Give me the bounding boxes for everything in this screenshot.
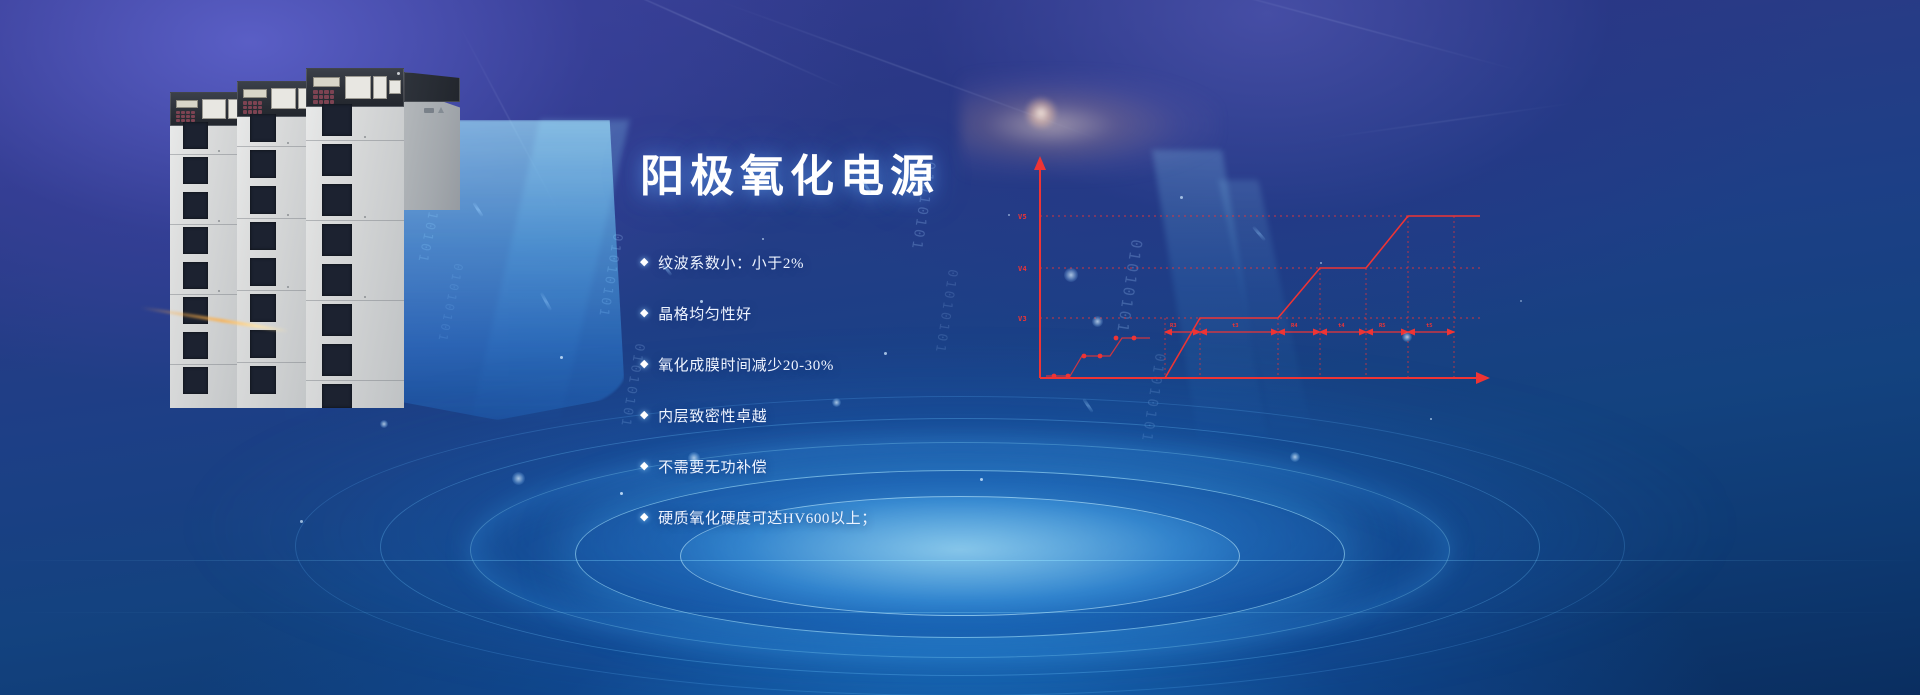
particle-dot — [762, 238, 764, 240]
segment-label-t3: t3 — [1232, 323, 1239, 329]
cabinet-keypad — [243, 101, 262, 114]
lens-flare-core — [1024, 96, 1058, 130]
particle-dot — [884, 352, 887, 355]
diamond-bullet-icon: ◆ — [640, 308, 649, 319]
cabinet-vent — [322, 224, 352, 256]
light-streak — [1156, 0, 1523, 72]
cabinet-control-panel — [306, 68, 404, 107]
particle-dot — [700, 300, 703, 303]
list-item: ◆ 不需要无功补偿 — [640, 456, 1060, 477]
floor-line — [0, 560, 1920, 561]
particle-dot — [1008, 214, 1010, 216]
cabinet-vent — [322, 144, 352, 176]
particle-dot — [1180, 196, 1183, 199]
particle-dot — [1430, 418, 1432, 420]
cabinet-vent — [250, 294, 276, 322]
bokeh-particle — [380, 420, 388, 428]
cabinet-meter — [389, 80, 401, 94]
cabinet-label-plate — [345, 76, 371, 99]
bokeh-particle — [1290, 452, 1300, 462]
data-point — [1082, 354, 1087, 359]
dimension-r5: R5 — [1366, 323, 1408, 332]
cabinet-vent — [322, 264, 352, 296]
cabinet-vent — [183, 367, 208, 394]
data-point — [1052, 374, 1057, 379]
y-tick-v3: V3 — [1018, 315, 1027, 323]
particle-dot — [300, 520, 303, 523]
cabinet-vent — [183, 332, 208, 359]
cabinet-keypad — [176, 111, 195, 122]
diamond-bullet-icon: ◆ — [640, 257, 649, 268]
cabinet-vent — [250, 186, 276, 214]
cabinet-display — [176, 100, 198, 108]
anodic-oxidation-power-supply-banner: 01010101 01010101 01010101 01010101 0101… — [0, 0, 1920, 695]
cabinet-label-plate — [271, 88, 296, 109]
data-point — [1066, 374, 1071, 379]
cabinet-vent — [183, 262, 208, 289]
data-point — [1098, 354, 1103, 359]
cabinet-label-plate — [373, 76, 387, 99]
feature-text: 氧化成膜时间减少20-30% — [658, 354, 834, 375]
dimension-r4: R4 — [1278, 323, 1320, 332]
power-supply-cabinets — [160, 78, 490, 408]
cabinet-vent — [322, 304, 352, 336]
segment-label-r3: R3 — [1170, 323, 1177, 329]
diamond-bullet-icon: ◆ — [640, 359, 649, 370]
cabinet-label-plate — [202, 99, 226, 119]
panel-indicator — [397, 72, 400, 75]
feature-text: 内层致密性卓越 — [658, 405, 767, 426]
side-logo-icon — [424, 108, 434, 113]
cabinet-display — [313, 77, 340, 87]
particle-dot — [980, 478, 983, 481]
diamond-bullet-icon: ◆ — [640, 512, 649, 523]
light-streak — [573, 0, 847, 90]
data-point — [1132, 336, 1137, 341]
list-item: ◆ 纹波系数小：小于2% — [640, 252, 1060, 273]
cabinet-vent — [183, 192, 208, 219]
particle-dot — [1520, 300, 1522, 302]
cabinet-vent — [322, 384, 352, 408]
segment-label-t5: t5 — [1426, 323, 1433, 329]
y-tick-v4: V4 — [1018, 265, 1027, 273]
segment-label-t4: t4 — [1338, 323, 1345, 329]
bokeh-particle — [832, 398, 841, 407]
data-point — [1114, 336, 1119, 341]
cabinet-vent — [322, 104, 352, 136]
list-item: ◆ 内层致密性卓越 — [640, 405, 1060, 426]
dimension-t3: t3 — [1200, 323, 1278, 332]
light-streak — [1321, 102, 1579, 139]
segment-label-r4: R4 — [1291, 323, 1298, 329]
cabinet-vent — [322, 344, 352, 376]
page-title: 阳极氧化电源 — [640, 140, 1060, 204]
particle-dot — [1320, 262, 1322, 264]
cabinet-vent — [322, 184, 352, 216]
cabinet-vent — [250, 258, 276, 286]
feature-text: 硬质氧化硬度可达HV600以上； — [658, 507, 877, 528]
staircase-waveform — [1040, 216, 1480, 378]
cabinet-display — [243, 89, 267, 98]
bokeh-particle — [1402, 332, 1412, 342]
cabinet-vent — [250, 330, 276, 358]
feature-text: 不需要无功补偿 — [658, 456, 767, 477]
content-block: 阳极氧化电源 ◆ 纹波系数小：小于2% ◆ 晶格均匀性好 ◆ 氧化成膜时间减少2… — [640, 140, 1060, 558]
list-item: ◆ 晶格均匀性好 — [640, 303, 1060, 324]
feature-list: ◆ 纹波系数小：小于2% ◆ 晶格均匀性好 ◆ 氧化成膜时间减少20-30% ◆… — [640, 252, 1060, 528]
cabinet-vent — [250, 222, 276, 250]
diamond-bullet-icon: ◆ — [640, 410, 649, 421]
cabinet-vent — [250, 366, 276, 394]
segment-label-r5: R5 — [1379, 323, 1386, 329]
cabinet-vent — [183, 227, 208, 254]
cabinet-keypad — [313, 90, 334, 104]
diamond-bullet-icon: ◆ — [640, 461, 649, 472]
list-item: ◆ 氧化成膜时间减少20-30% — [640, 354, 1060, 375]
waveform-svg: V5 V4 V3 R3 — [1010, 150, 1510, 400]
cabinet-front — [306, 84, 404, 408]
cabinet-vent — [250, 150, 276, 178]
y-tick-v5: V5 — [1018, 213, 1027, 221]
cabinet-vent — [183, 157, 208, 184]
floor-line — [0, 612, 1920, 613]
bokeh-particle — [1064, 268, 1078, 282]
cabinet-vent — [183, 297, 208, 324]
cabinet-vent — [183, 122, 208, 149]
feature-text: 晶格均匀性好 — [658, 303, 752, 324]
particle-dot — [560, 356, 563, 359]
dimension-t5: t5 — [1408, 323, 1454, 332]
cabinet-vent — [250, 114, 276, 142]
dimension-t4: t4 — [1320, 323, 1366, 332]
waveform-diagram: V5 V4 V3 R3 — [1010, 150, 1510, 400]
particle-dot — [620, 492, 623, 495]
bokeh-particle — [512, 472, 525, 485]
feature-text: 纹波系数小：小于2% — [658, 252, 804, 273]
bokeh-particle — [1092, 316, 1103, 327]
bokeh-particle — [688, 452, 700, 464]
list-item: ◆ 硬质氧化硬度可达HV600以上； — [640, 507, 1060, 528]
